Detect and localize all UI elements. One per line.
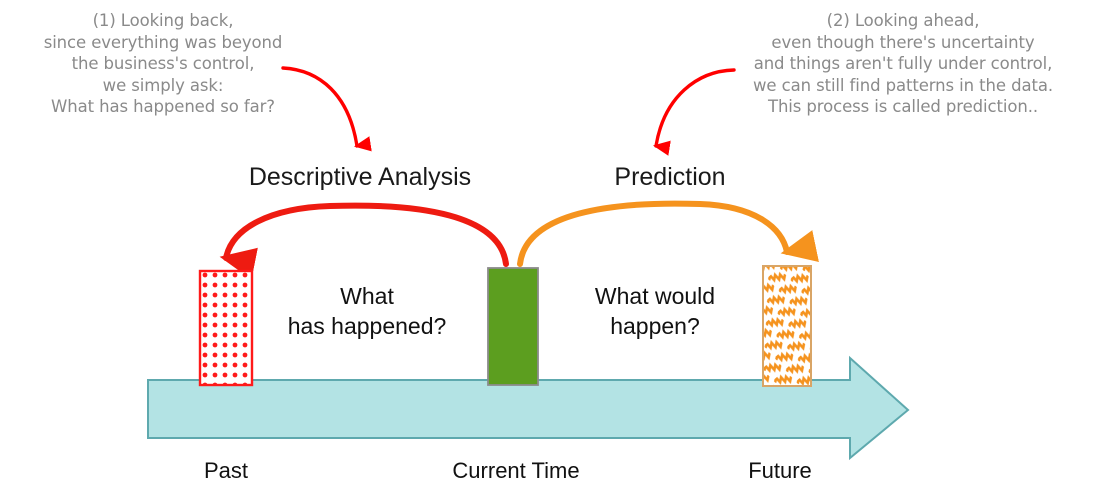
axis-label-future: Future xyxy=(700,458,860,484)
past-bar xyxy=(200,271,252,385)
axis-label-current-time: Current Time xyxy=(406,458,626,484)
annotation-looking-ahead: (2) Looking ahead, even though there's u… xyxy=(712,10,1094,118)
label-prediction: Prediction xyxy=(560,163,780,192)
axis-label-past: Past xyxy=(146,458,306,484)
prediction-arc xyxy=(520,204,787,264)
question-what-has-happened: What has happened? xyxy=(262,281,472,341)
descriptive-arc xyxy=(226,206,506,264)
future-bar xyxy=(763,266,811,386)
time-axis-arrow xyxy=(148,358,908,458)
label-descriptive-analysis: Descriptive Analysis xyxy=(200,163,520,192)
annotation-looking-back: (1) Looking back, since everything was b… xyxy=(8,10,318,118)
question-what-would-happen: What would happen? xyxy=(560,281,750,341)
current-bar xyxy=(488,268,538,385)
diagram-canvas: (1) Looking back, since everything was b… xyxy=(0,0,1100,495)
